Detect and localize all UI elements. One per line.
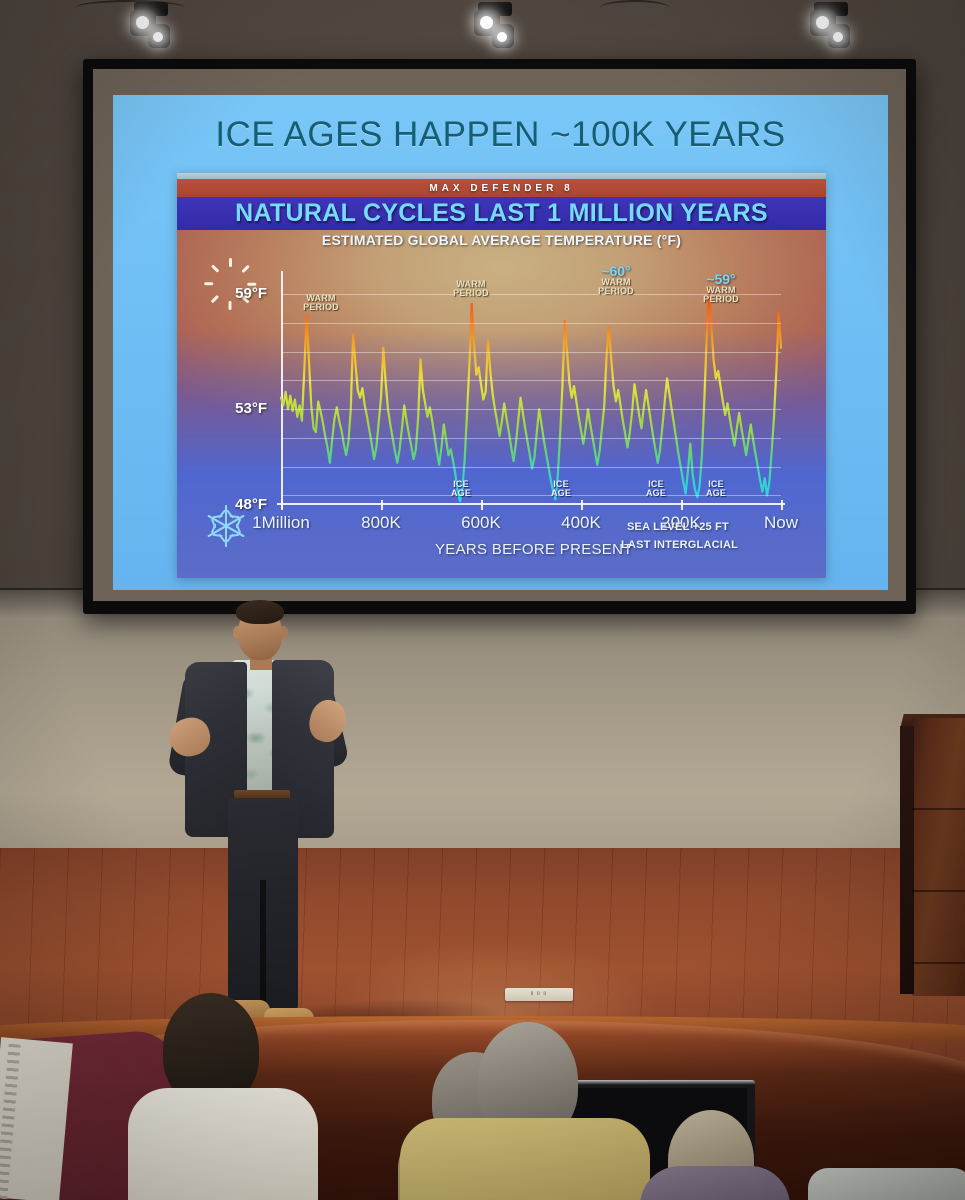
chart-gridline <box>281 380 781 381</box>
chart-x-tick-label: 1Million <box>252 513 310 533</box>
chart-x-tick-label: Now <box>764 513 798 533</box>
chart-gridline <box>281 409 781 410</box>
chart-x-tick-label: 400K <box>561 513 601 533</box>
chart-gridline <box>281 495 781 496</box>
chart-y-tick-label: 48°F <box>235 496 267 513</box>
projection-screen-frame: ICE AGES HAPPEN ~100K YEARS MAX DEFENDER… <box>83 59 916 614</box>
chart-x-tick <box>581 500 583 510</box>
sun-ray <box>241 265 249 273</box>
podium-side-panel <box>900 726 914 994</box>
sun-icon <box>203 257 257 311</box>
chart-gridline <box>281 467 781 468</box>
presentation-slide: ICE AGES HAPPEN ~100K YEARS MAX DEFENDER… <box>113 95 888 590</box>
audience-body <box>808 1168 965 1200</box>
audience-body <box>400 1118 650 1200</box>
back-wall-lower <box>0 590 965 860</box>
podium <box>900 700 965 1010</box>
headline-text: NATURAL CYCLES LAST 1 MILLION YEARS <box>177 197 826 230</box>
graphic-subtitle: ESTIMATED GLOBAL AVERAGE TEMPERATURE (°F… <box>177 232 826 248</box>
sun-ray <box>204 283 213 286</box>
audience-body <box>640 1166 790 1200</box>
chart-x-tick-label: 600K <box>461 513 501 533</box>
podium-seam <box>912 962 965 964</box>
ceiling-spotlight <box>472 2 518 42</box>
stage-floor-plate-text: ⌷ ⌷ ⌷ <box>509 991 569 997</box>
light-cable <box>600 0 670 16</box>
screen-brand-logo <box>892 592 894 598</box>
audience-body <box>128 1088 318 1200</box>
sea-level-note-line1: SEA LEVEL +25 FT <box>627 521 729 533</box>
weather-graphic-card: MAX DEFENDER 8 NATURAL CYCLES LAST 1 MIL… <box>177 173 826 578</box>
chart-x-tick <box>681 500 683 510</box>
projection-screen-surface: ICE AGES HAPPEN ~100K YEARS MAX DEFENDER… <box>93 69 906 601</box>
chart-gridline <box>281 352 781 353</box>
chart-y-tick-label: 59°F <box>235 285 267 302</box>
slide-title: ICE AGES HAPPEN ~100K YEARS <box>113 115 888 155</box>
chart-gridline <box>281 323 781 324</box>
chart-y-tick-label: 53°F <box>235 400 267 417</box>
chart-gridline <box>281 294 781 295</box>
podium-seam <box>912 808 965 810</box>
podium-seam <box>912 890 965 892</box>
sun-ray <box>229 301 232 310</box>
podium-front-panel <box>912 718 965 996</box>
ceiling-spotlight <box>808 2 854 42</box>
presenter-leg-gap <box>260 880 266 1010</box>
chart-x-tick <box>481 500 483 510</box>
sea-level-note-line2: LAST INTERGLACIAL <box>621 539 738 551</box>
temperature-line-series <box>281 275 781 505</box>
brand-band-label: MAX DEFENDER 8 <box>177 179 826 197</box>
temperature-chart: 59°F53°F48°F1Million800K600K400K200KNowW… <box>281 275 781 505</box>
chart-gridline <box>281 438 781 439</box>
chart-x-tick-label: 800K <box>361 513 401 533</box>
sun-ray <box>211 265 219 273</box>
ceiling-spotlight <box>128 2 174 42</box>
chart-xaxis-caption: YEARS BEFORE PRESENT <box>435 541 633 558</box>
screenshot-root: ICE AGES HAPPEN ~100K YEARS MAX DEFENDER… <box>0 0 965 1200</box>
chart-x-tick <box>781 500 783 510</box>
chart-x-tick <box>281 500 283 510</box>
presenter-hair <box>236 600 284 624</box>
sun-ray <box>229 258 232 267</box>
sun-ray <box>211 295 219 303</box>
chart-x-tick <box>381 500 383 510</box>
